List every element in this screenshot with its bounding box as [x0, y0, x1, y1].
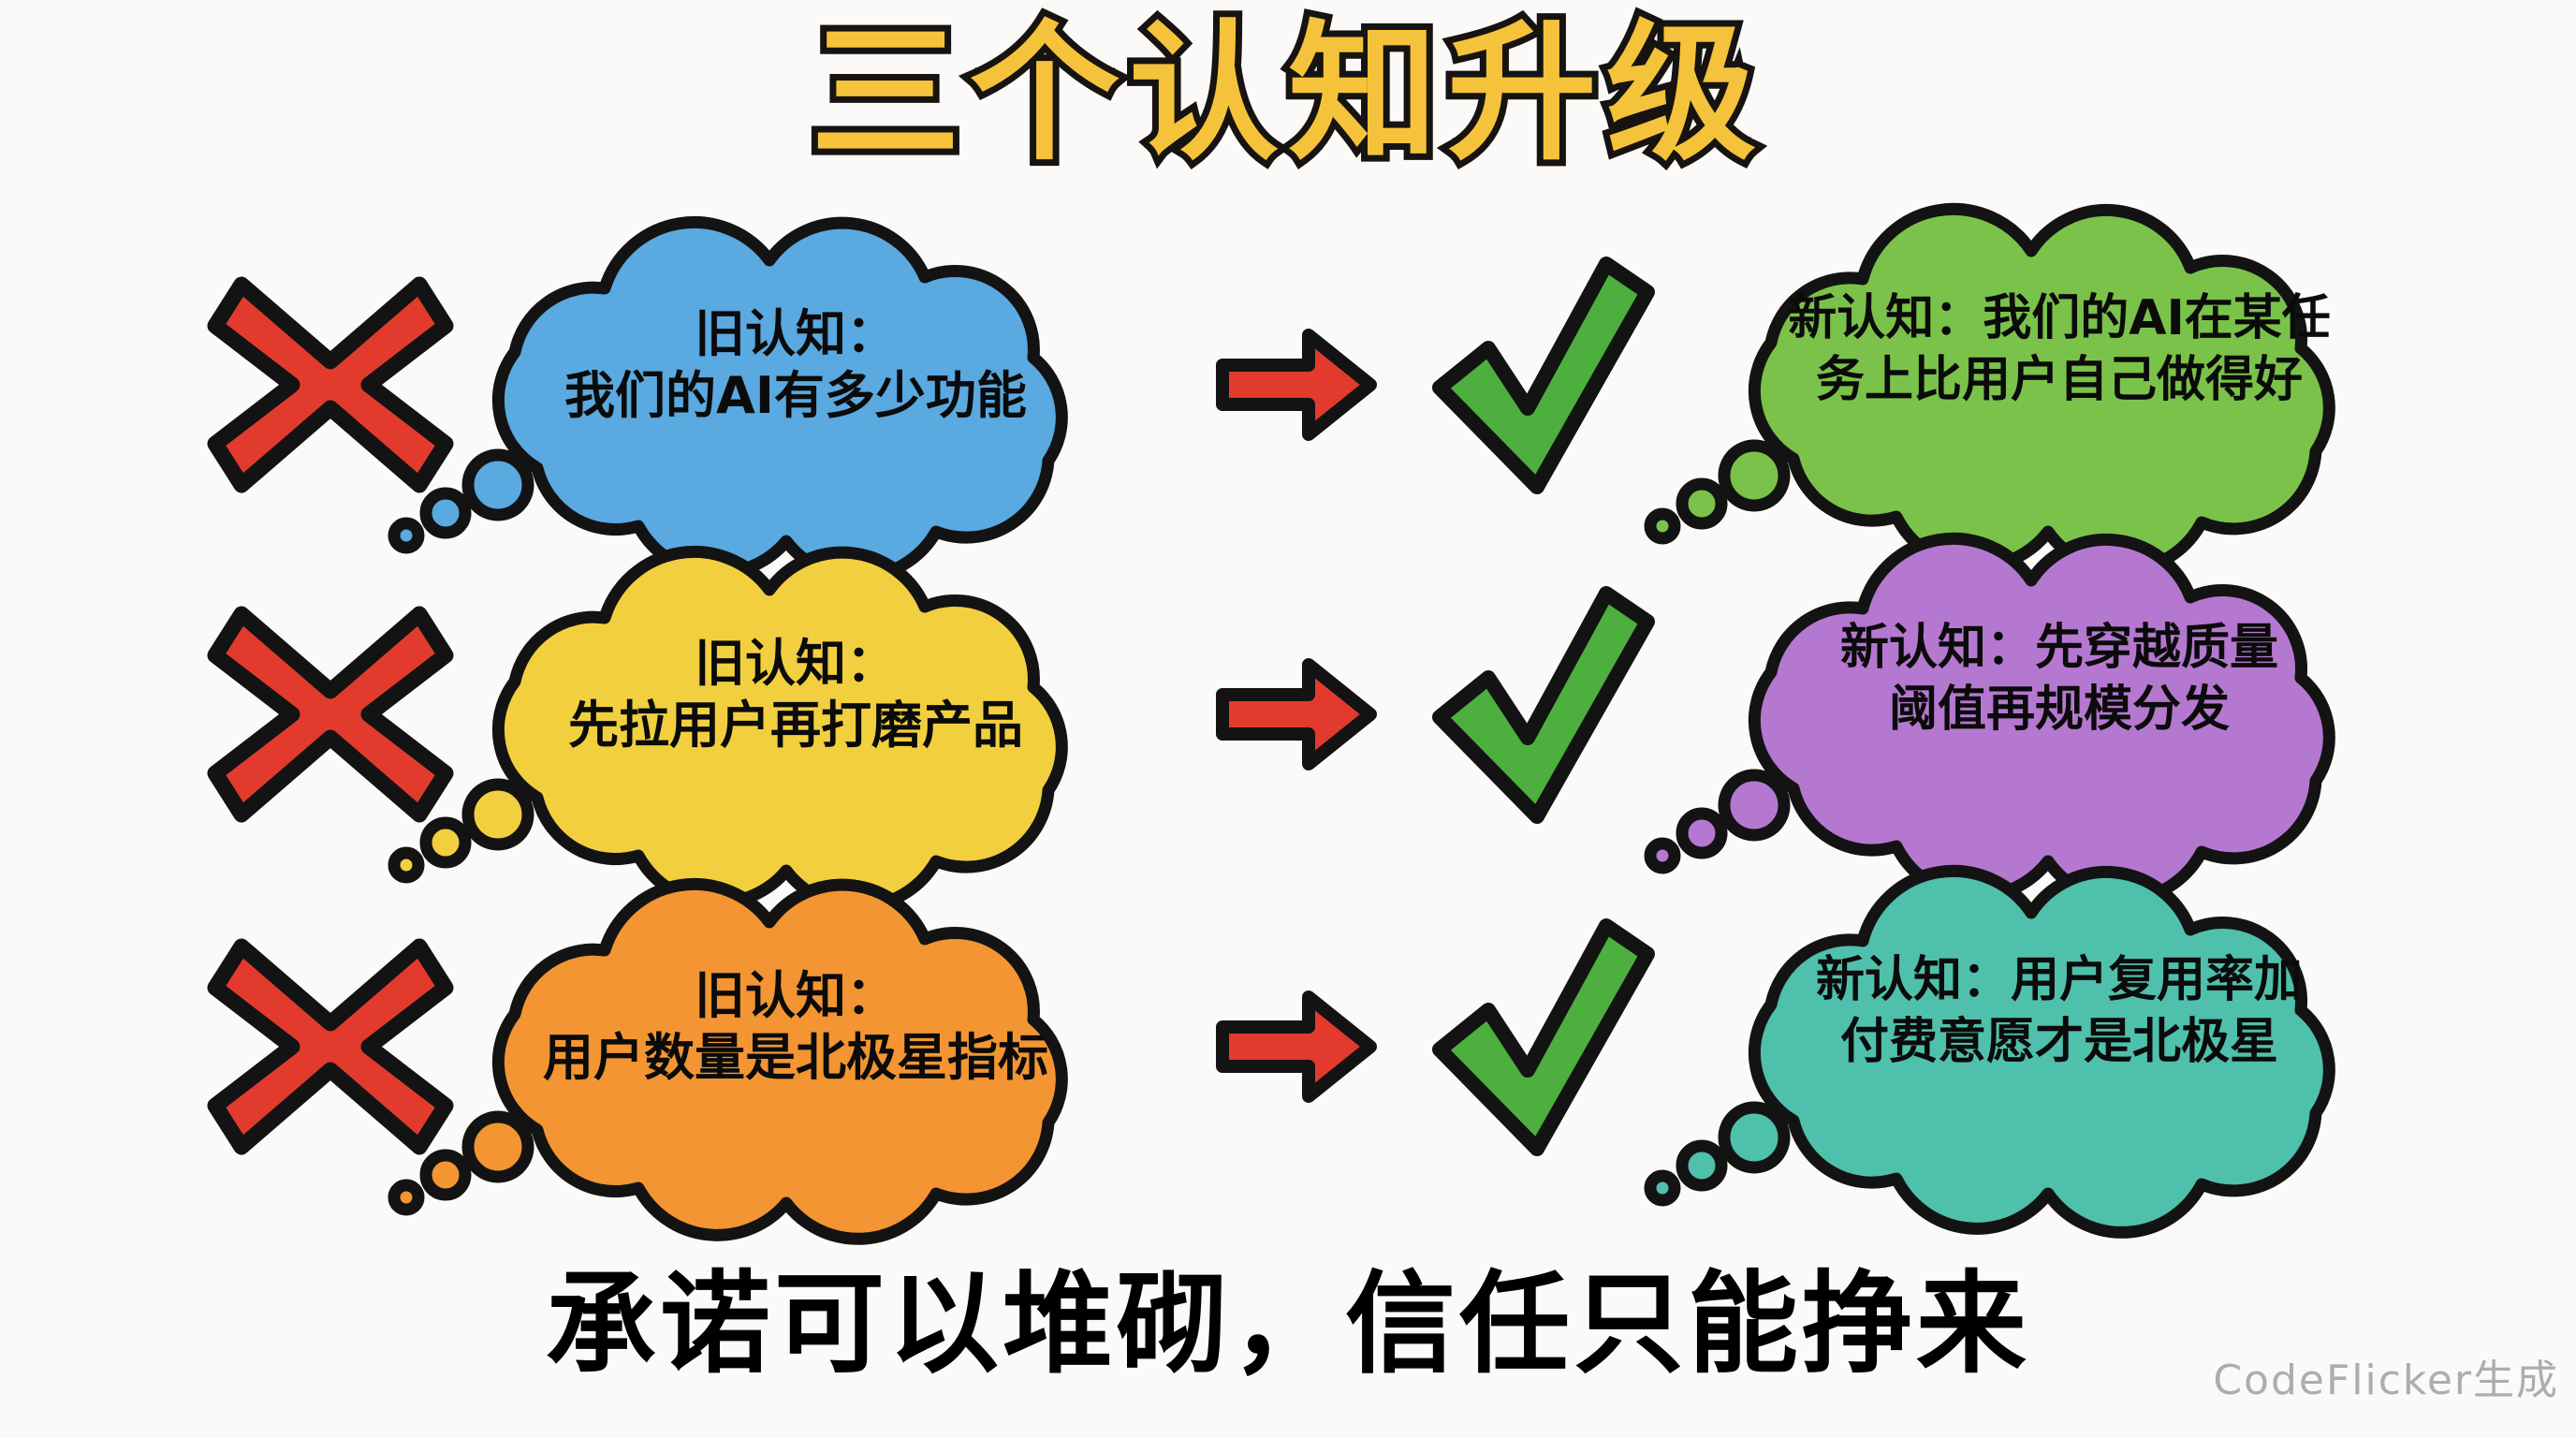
watermark: CodeFlicker生成 — [2213, 1346, 2559, 1406]
old-belief-cloud: 旧认知： 先拉用户再打磨产品 — [374, 569, 1217, 878]
comparison-row: 旧认知： 先拉用户再打磨产品 新认知：先穿越质量 阈值再规模分发 — [0, 580, 2576, 889]
comparison-row: 旧认知： 我们的AI有多少功能 新认知：我们的AI在某任 务上比用户自己做得好 — [0, 251, 2576, 560]
new-belief-cloud: 新认知：先穿越质量 阈值再规模分发 — [1629, 560, 2490, 869]
check-icon — [1423, 588, 1657, 831]
arrow-right-icon — [1217, 986, 1376, 1108]
old-belief-cloud: 旧认知： 我们的AI有多少功能 — [374, 240, 1217, 549]
poster-canvas: 三个认知升级 旧认知： 我们的AI有多少功能 — [0, 0, 2576, 1438]
check-icon — [1423, 920, 1657, 1164]
old-belief-cloud: 旧认知： 用户数量是北极星指标 — [374, 902, 1217, 1211]
comparison-row: 旧认知： 用户数量是北极星指标 新认知：用户复用率加 付费意愿才是北极星 — [0, 913, 2576, 1222]
check-icon — [1423, 258, 1657, 502]
bottom-caption: 承诺可以堆砌，信任只能挣来 — [0, 1234, 2576, 1394]
new-belief-cloud: 新认知：我们的AI在某任 务上比用户自己做得好 — [1629, 230, 2490, 539]
page-title: 三个认知升级 — [0, 17, 2576, 169]
arrow-right-icon — [1217, 653, 1376, 775]
arrow-right-icon — [1217, 324, 1376, 446]
new-belief-cloud: 新认知：用户复用率加 付费意愿才是北极星 — [1629, 892, 2490, 1201]
